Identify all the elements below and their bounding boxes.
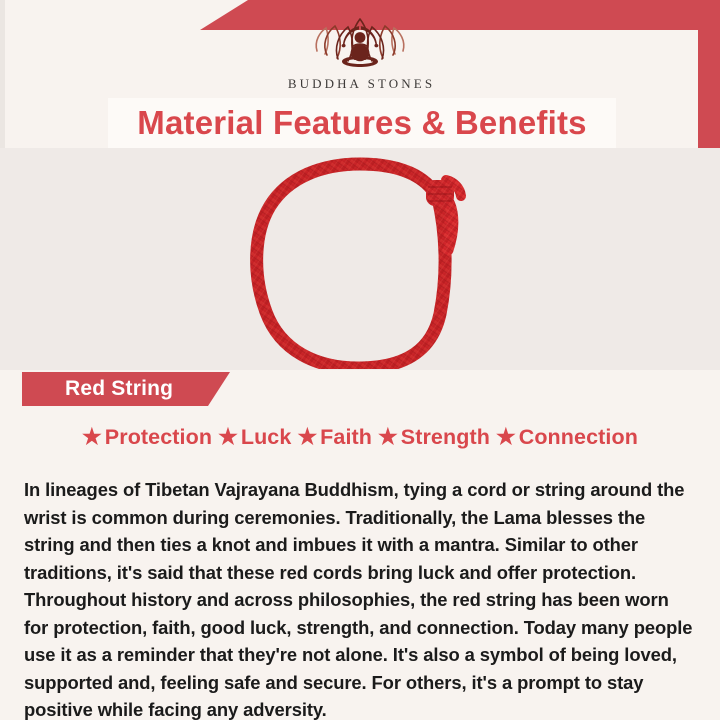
brand-logo: BUDDHA STONES (285, 15, 435, 92)
benefit-item: ★ Luck (218, 425, 291, 450)
benefit-label: Faith (320, 425, 372, 450)
product-name-label: Red String (22, 377, 173, 401)
benefits-row: ★ Protection ★ Luck ★ Faith ★ Strength ★… (0, 420, 720, 454)
benefit-item: ★ Faith (297, 425, 372, 450)
benefit-label: Strength (401, 425, 490, 450)
page-title: Material Features & Benefits (137, 104, 586, 142)
benefit-label: Protection (105, 425, 212, 450)
star-icon: ★ (82, 426, 102, 448)
title-banner: Material Features & Benefits (108, 98, 616, 148)
benefit-item: ★ Strength (378, 425, 490, 450)
brand-name: BUDDHA STONES (285, 76, 435, 92)
star-icon: ★ (378, 426, 398, 448)
benefit-label: Connection (519, 425, 638, 450)
benefit-item: ★ Connection (496, 425, 638, 450)
poster-canvas: BUDDHA STONES Material Features & Benefi… (0, 0, 720, 720)
red-string-bracelet-image (210, 154, 510, 369)
product-name-ribbon: Red String (22, 372, 230, 406)
lotus-meditation-icon (304, 15, 416, 73)
star-icon: ★ (297, 426, 317, 448)
star-icon: ★ (496, 426, 516, 448)
benefit-label: Luck (241, 425, 292, 450)
benefit-item: ★ Protection (82, 425, 212, 450)
description-paragraph: In lineages of Tibetan Vajrayana Buddhis… (24, 476, 694, 720)
star-icon: ★ (218, 426, 238, 448)
product-image-band (0, 148, 720, 370)
brand-header: BUDDHA STONES (0, 0, 720, 96)
